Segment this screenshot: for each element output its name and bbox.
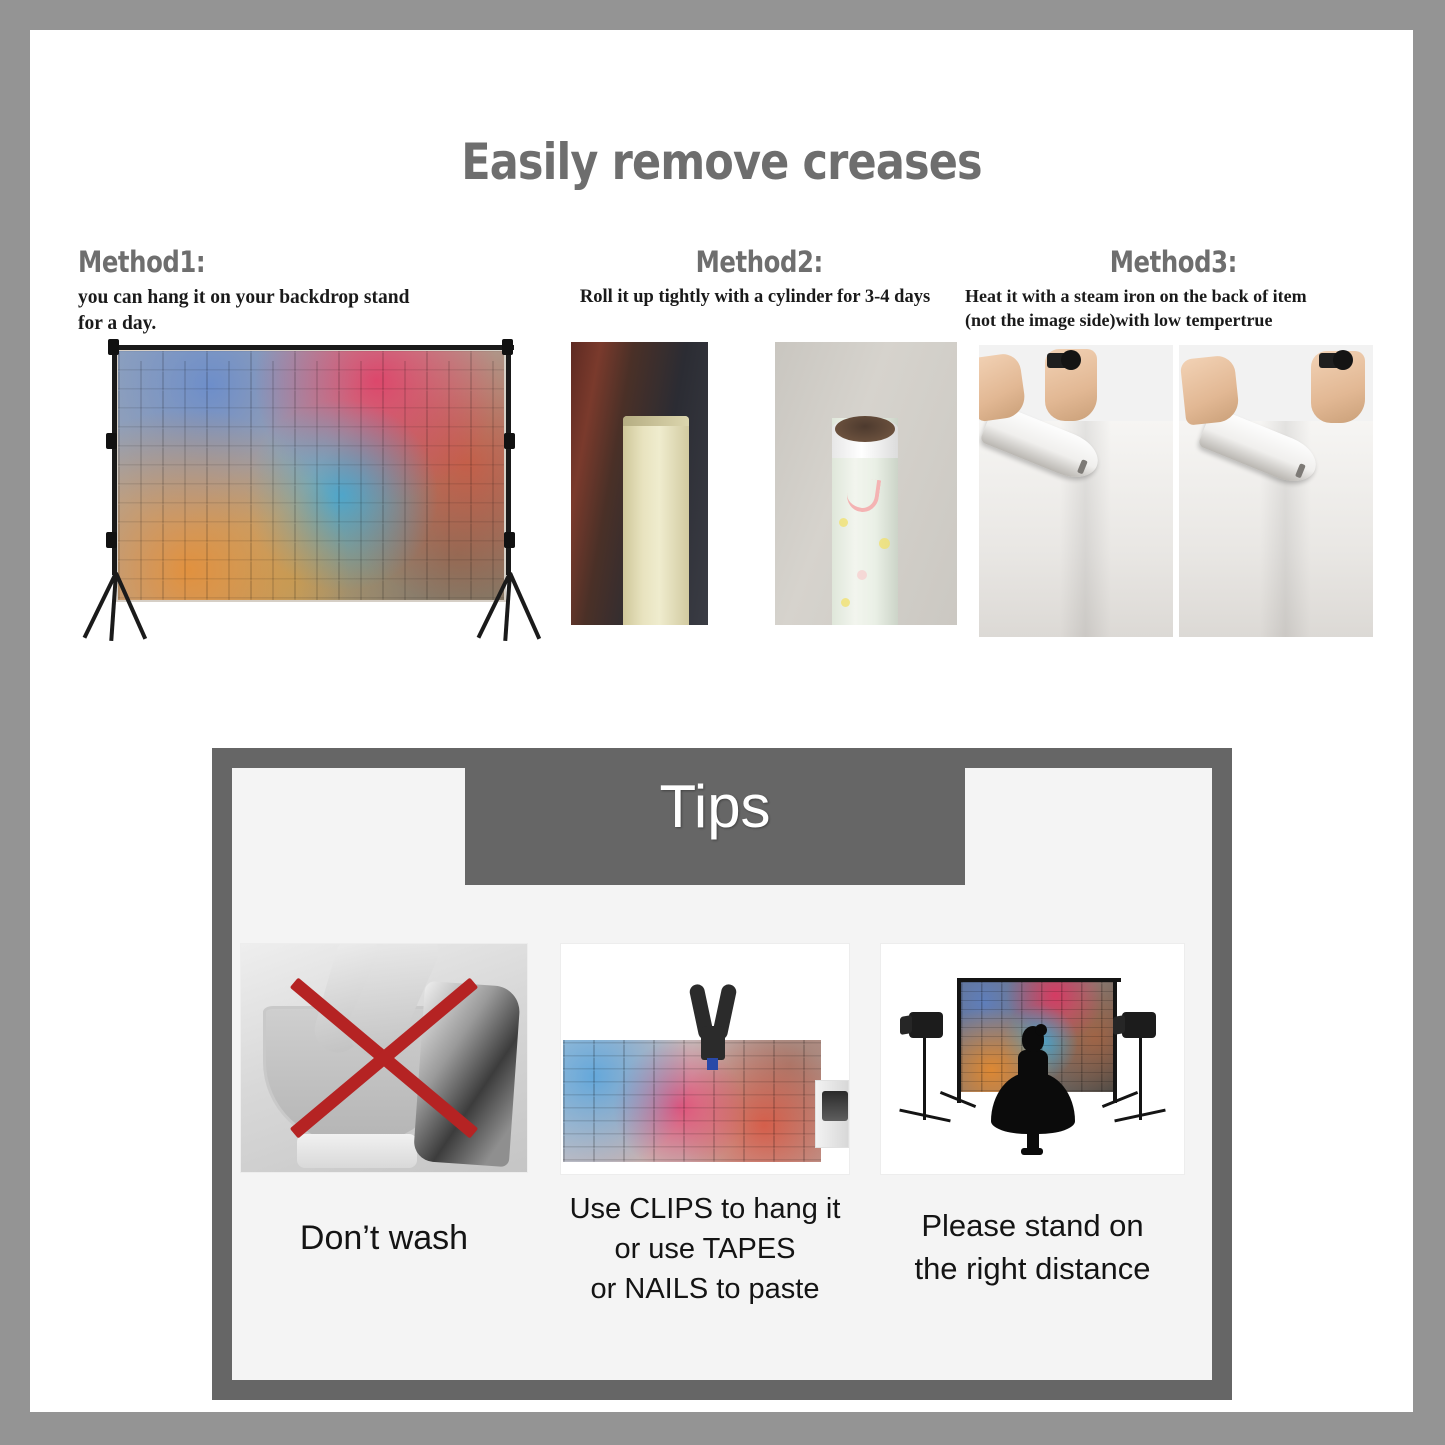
brick-wall-backdrop [116,349,506,602]
steam-iron-photo-right [1179,345,1373,637]
method-2-heading: Method2: [570,245,940,279]
brick-backdrop-sample [563,1040,821,1162]
rolled-backdrop-on-wood [571,342,708,625]
clip-backdrop-image [560,943,850,1175]
tip-caption-line: or use TAPES [560,1229,850,1269]
tips-cards: Don’t wash Use CLIPS to hang it [230,943,1194,1333]
tip-caption-line: or NAILS to paste [560,1269,850,1309]
studio-stand-post [957,978,961,1103]
girl-silhouette [991,1024,1075,1152]
method-1-description: you can hang it on your backdrop stand f… [78,285,543,336]
tube-pattern-dot [841,598,850,607]
studio-stand-leg [1102,1091,1138,1108]
cardboard-tube-closeup [775,342,957,625]
tip-card-stand-distance: Please stand on the right distance [880,943,1185,1291]
method-3-heading: Method3: [998,245,1342,279]
method-3: Method3: Heat it with a steam iron on th… [965,245,1375,333]
paper-tube [623,416,689,625]
cylinder-photo-dark [563,337,743,637]
light-stand-left [923,1038,926,1120]
tip-caption-dont-wash: Don’t wash [240,1215,528,1262]
silhouette-hair-bun [1035,1024,1047,1036]
backdrop-stand-image [84,337,539,647]
tip-caption-line: the right distance [880,1248,1185,1291]
method-3-description-line1: Heat it with a steam iron on the back of… [965,285,1375,309]
wet-fabric [413,981,521,1167]
steam-iron-photo-left [979,345,1173,637]
hand-left [1180,354,1241,425]
page-title: Easily remove creases [127,133,1316,191]
silhouette-torso [1018,1050,1048,1084]
method-2-description: Roll it up tightly with a cylinder for 3… [535,285,975,309]
poster-page: Easily remove creases Method1: you can h… [30,30,1413,1412]
method-2-description-line1: Roll it up tightly with a cylinder for 3… [535,285,975,309]
tip-card-use-clips: Use CLIPS to hang it or use TAPES or NAI… [560,943,850,1309]
tip-caption-line: Please stand on [880,1205,1185,1248]
tips-tab-label: Tips [465,748,965,885]
studio-light-right [1122,1012,1156,1038]
clamp-body [701,1026,725,1060]
tip-caption-line: Use CLIPS to hang it [560,1189,850,1229]
tip-caption-use-clips: Use CLIPS to hang it or use TAPES or NAI… [560,1189,850,1309]
method-3-description-line2: (not the image side)with low tempertrue [965,309,1375,333]
light-stand-right [1139,1038,1142,1120]
roller-bar [815,1080,849,1148]
methods-section: Method1: you can hang it on your backdro… [30,245,1413,705]
clamp-icon [691,984,741,1054]
studio-light-left [909,1012,943,1038]
method-1-heading: Method1: [78,245,469,279]
studio-stand-post [1113,978,1117,1103]
steam-iron-photo-pair [979,345,1375,637]
method-1: Method1: you can hang it on your backdro… [78,245,543,336]
tube-pattern-dot [839,518,848,527]
stand-crossbar [110,345,514,350]
studio-setup-image [880,943,1185,1175]
tip-caption-line: Don’t wash [240,1215,528,1262]
method-2: Method2: Roll it up tightly with a cylin… [535,245,975,309]
wristwatch [1047,353,1075,368]
stand-knob [108,339,119,355]
tip-card-dont-wash: Don’t wash [240,943,528,1262]
tube-pattern-dot [879,538,890,549]
cylinder-photo-light [775,337,965,637]
stand-knob [504,433,515,449]
clamp-tip [707,1058,718,1070]
stand-knob [502,339,513,355]
brick-texture-offset [140,361,506,601]
studio-scene [887,950,1178,1168]
method-1-description-line2: for a day. [78,311,543,337]
method-3-description: Heat it with a steam iron on the back of… [965,285,1375,333]
studio-stand-crossbar [957,978,1121,982]
stand-knob [106,532,117,548]
stand-leg [508,572,541,639]
tip-caption-stand-distance: Please stand on the right distance [880,1205,1185,1291]
stand-knob [106,433,117,449]
tips-panel: Tips Don’t wash [212,748,1232,1400]
wristwatch [1319,353,1347,368]
silhouette-foot [1021,1148,1043,1155]
wash-basin-image [240,943,528,1173]
basin-stand [297,1134,417,1168]
tube-pattern-dot [857,570,867,580]
method-1-description-line1: you can hang it on your backdrop stand [78,285,543,311]
stand-knob [504,532,515,548]
tube-opening [835,416,895,442]
